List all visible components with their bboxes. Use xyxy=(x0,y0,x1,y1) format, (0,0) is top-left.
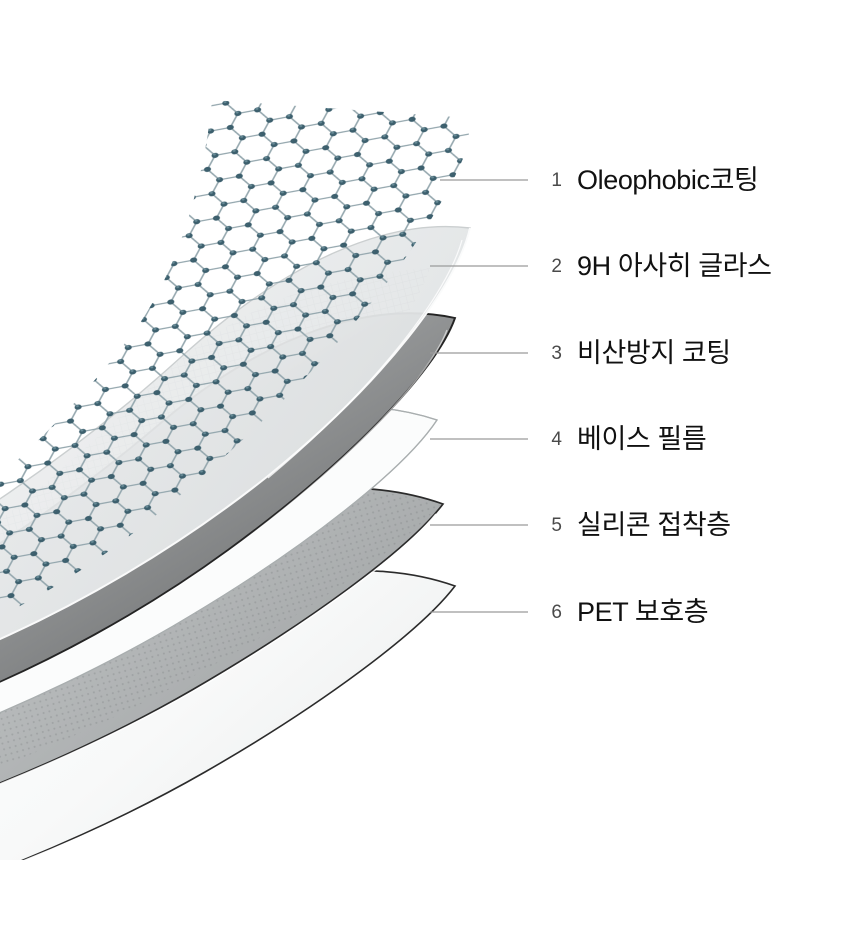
callout-item-5[interactable]: 5 실리콘 접착층 xyxy=(536,505,731,545)
callout-item-6[interactable]: 6 PET 보호층 xyxy=(536,592,708,632)
callout-number-6: 6 xyxy=(536,603,562,622)
callout-label-5: 실리콘 접착층 xyxy=(577,512,731,539)
callout-number-4: 4 xyxy=(536,430,562,449)
callout-label-1: Oleophobic코팅 xyxy=(577,167,758,194)
callout-number-2: 2 xyxy=(536,257,562,276)
callout-item-1[interactable]: 1 Oleophobic코팅 xyxy=(536,160,758,200)
callout-label-6: PET 보호층 xyxy=(577,599,708,626)
diagram-canvas: 1 Oleophobic코팅 2 9H 아사히 글라스 3 비산방지 코팅 4 … xyxy=(0,0,860,947)
callout-number-5: 5 xyxy=(536,516,562,535)
callout-label-3: 비산방지 코팅 xyxy=(577,340,731,367)
callout-number-1: 1 xyxy=(536,171,562,190)
callout-item-2[interactable]: 2 9H 아사히 글라스 xyxy=(536,246,772,286)
callout-label-2: 9H 아사히 글라스 xyxy=(577,253,772,280)
callout-item-3[interactable]: 3 비산방지 코팅 xyxy=(536,333,731,373)
callout-label-4: 베이스 필름 xyxy=(577,426,706,453)
exploded-layer-artwork xyxy=(0,0,520,860)
callout-item-4[interactable]: 4 베이스 필름 xyxy=(536,419,706,459)
callout-number-3: 3 xyxy=(536,344,562,363)
